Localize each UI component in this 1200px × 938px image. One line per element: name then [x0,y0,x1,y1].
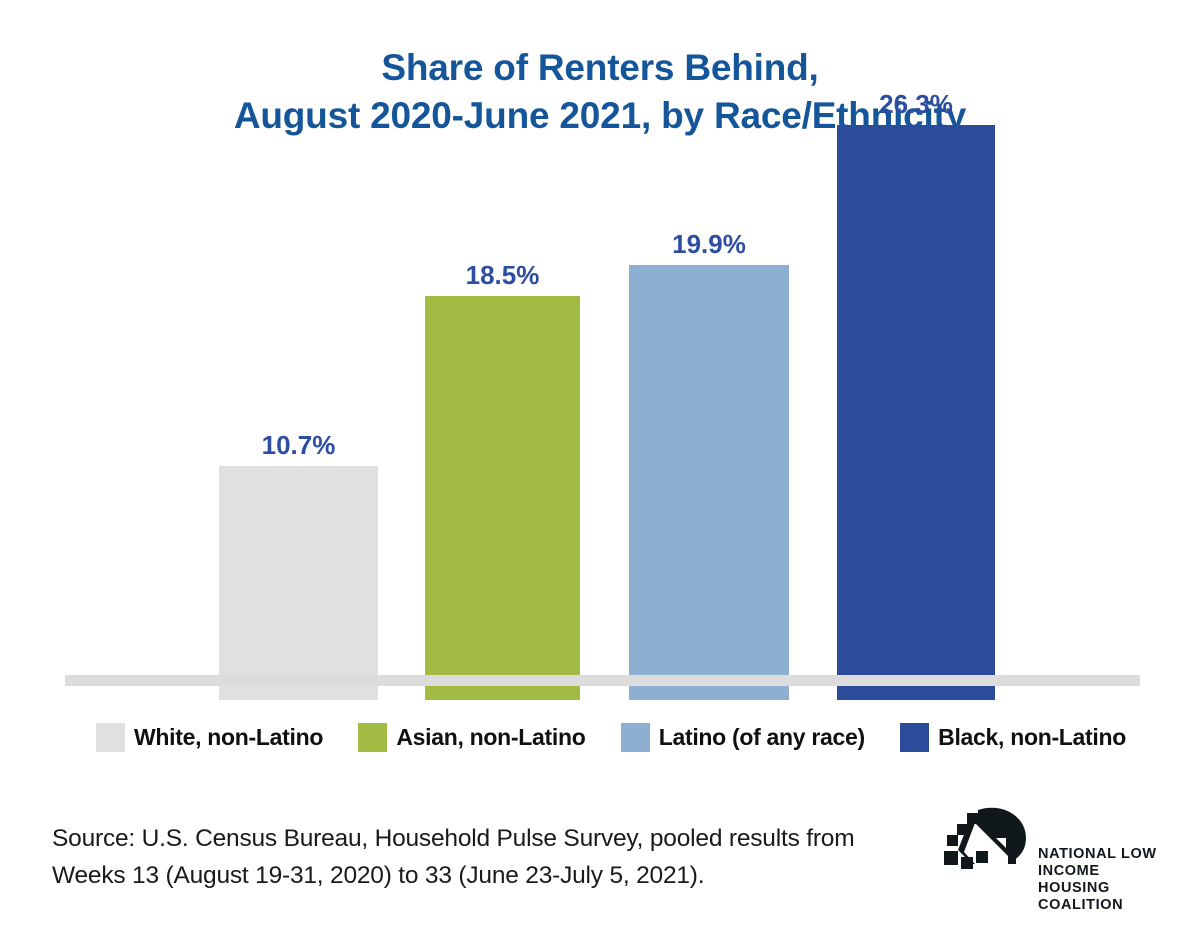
source-note-line-2: Weeks 13 (August 19-31, 2020) to 33 (Jun… [52,857,932,894]
legend-label-latino: Latino (of any race) [659,724,865,751]
housing-coalition-mark-icon [942,802,1034,880]
bar-group-asian: 18.5% [425,24,580,700]
bar-group-white: 10.7% [219,24,378,700]
bar-value-latino: 19.9% [672,229,746,259]
legend-swatch-latino-icon [621,723,650,752]
legend-label-asian: Asian, non-Latino [396,724,585,751]
bar-white[interactable] [219,466,378,700]
legend-swatch-white-icon [96,723,125,752]
bar-value-black: 26.3% [879,89,953,119]
legend-label-black: Black, non-Latino [938,724,1126,751]
legend-swatch-black-icon [900,723,929,752]
legend-swatch-asian-icon [358,723,387,752]
chart-legend: White, non-Latino Asian, non-Latino Lati… [96,716,1126,758]
bar-asian[interactable] [425,296,580,700]
logo-text-line-1: NATIONAL LOW INCOME [1038,846,1174,880]
bar-latino[interactable] [629,265,789,700]
source-note: Source: U.S. Census Bureau, Household Pu… [52,820,932,894]
logo-text-line-2: HOUSING COALITION [1038,880,1174,914]
organization-logo: NATIONAL LOW INCOME HOUSING COALITION [942,802,1174,890]
legend-label-white: White, non-Latino [134,724,323,751]
logo-text: NATIONAL LOW INCOME HOUSING COALITION [1038,846,1174,914]
legend-item-white[interactable]: White, non-Latino [96,723,323,752]
bar-group-latino: 19.9% [629,24,789,700]
bar-black[interactable] [837,125,995,700]
legend-item-asian[interactable]: Asian, non-Latino [358,723,585,752]
bar-value-asian: 18.5% [466,260,540,290]
legend-item-latino[interactable]: Latino (of any race) [621,723,865,752]
axis-baseline [65,675,1140,686]
bar-value-white: 10.7% [262,430,336,460]
bar-group-black: 26.3% [837,24,995,700]
legend-item-black[interactable]: Black, non-Latino [900,723,1126,752]
source-note-line-1: Source: U.S. Census Bureau, Household Pu… [52,820,932,857]
bar-chart-plot-area: 10.7% 18.5% 19.9% 26.3% [0,0,1200,700]
